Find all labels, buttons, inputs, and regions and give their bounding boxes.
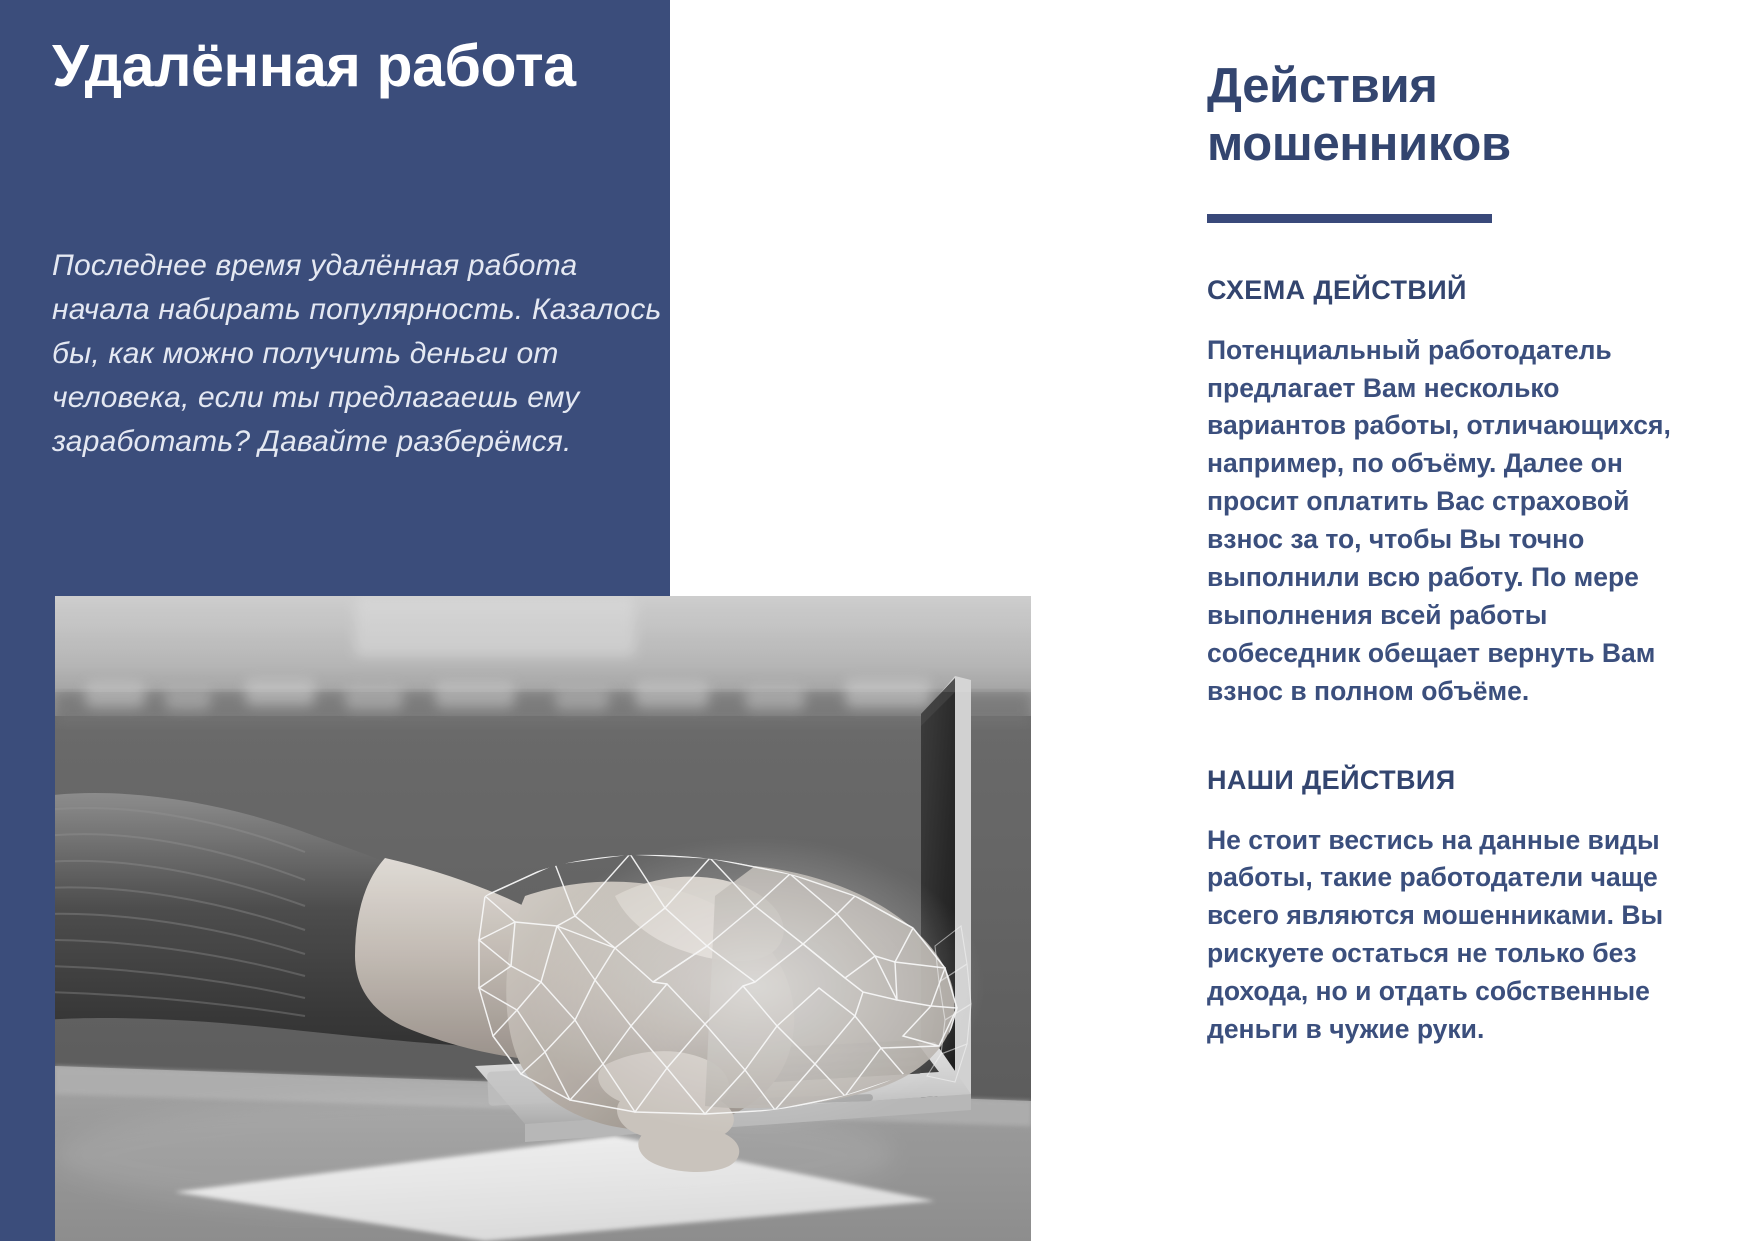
right-content-column: Действия мошенников СХЕМА ДЕЙСТВИЙ Потен… [1207, 0, 1707, 1241]
section-heading-scheme: СХЕМА ДЕЙСТВИЙ [1207, 223, 1707, 306]
section-body-scheme: Потенциальный работодатель предлагает Ва… [1207, 306, 1677, 711]
section-heading-our-actions: НАШИ ДЕЙСТВИЯ [1207, 711, 1707, 796]
section-title: Действия мошенников [1207, 0, 1707, 174]
page-title: Удалённая работа [52, 32, 652, 102]
photo-illustration [55, 596, 1031, 1241]
title-divider-rule [1207, 214, 1492, 223]
hero-panel: Удалённая работа Последнее время удалённ… [0, 0, 670, 596]
handshake-laptop-photo [55, 596, 1031, 1241]
slide-root: Удалённая работа Последнее время удалённ… [0, 0, 1755, 1241]
section-body-our-actions: Не стоит вестись на данные виды работы, … [1207, 796, 1677, 1049]
hero-lead-paragraph: Последнее время удалённая работа начала … [52, 244, 670, 464]
